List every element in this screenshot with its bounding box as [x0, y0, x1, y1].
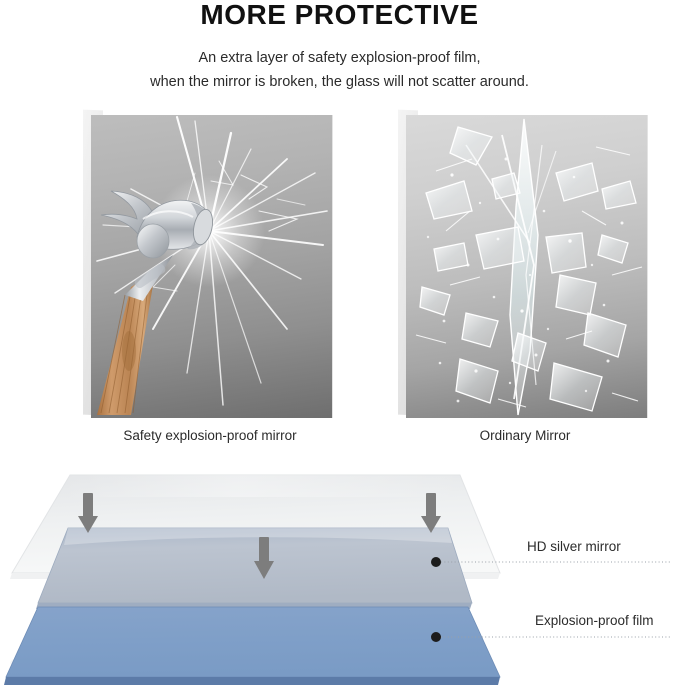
layer-hd-silver-mirror: [36, 528, 472, 609]
comparison-row: Safety explosion-proof mirror: [0, 108, 679, 448]
header: MORE PROTECTIVE An extra layer of safety…: [0, 0, 679, 94]
safety-mirror-panel: [75, 108, 345, 423]
subtitle-line-2: when the mirror is broken, the glass wil…: [0, 70, 679, 94]
mirror-surface-ordinary: [406, 115, 648, 418]
caption-safety-mirror: Safety explosion-proof mirror: [75, 426, 345, 446]
page-title: MORE PROTECTIVE: [0, 0, 679, 30]
mirror-surface-safety: [91, 115, 333, 418]
cracked-mirror-illustration: [91, 115, 333, 418]
layer-diagram: [0, 455, 679, 699]
layer-explosion-proof-film: [4, 607, 500, 685]
shattered-glass-illustration: [406, 115, 648, 418]
label-explosion-proof-film: Explosion-proof film: [535, 612, 654, 630]
callout-dot-hd-mirror: [431, 557, 441, 567]
label-hd-silver-mirror: HD silver mirror: [527, 538, 621, 556]
page-subtitle: An extra layer of safety explosion-proof…: [0, 30, 679, 94]
comparison-item-safety-mirror: Safety explosion-proof mirror: [75, 108, 345, 448]
subtitle-line-1: An extra layer of safety explosion-proof…: [0, 46, 679, 70]
caption-ordinary-mirror: Ordinary Mirror: [390, 426, 660, 446]
ordinary-mirror-panel: [390, 108, 660, 423]
comparison-item-ordinary-mirror: Ordinary Mirror: [390, 108, 660, 448]
callout-dot-film: [431, 632, 441, 642]
